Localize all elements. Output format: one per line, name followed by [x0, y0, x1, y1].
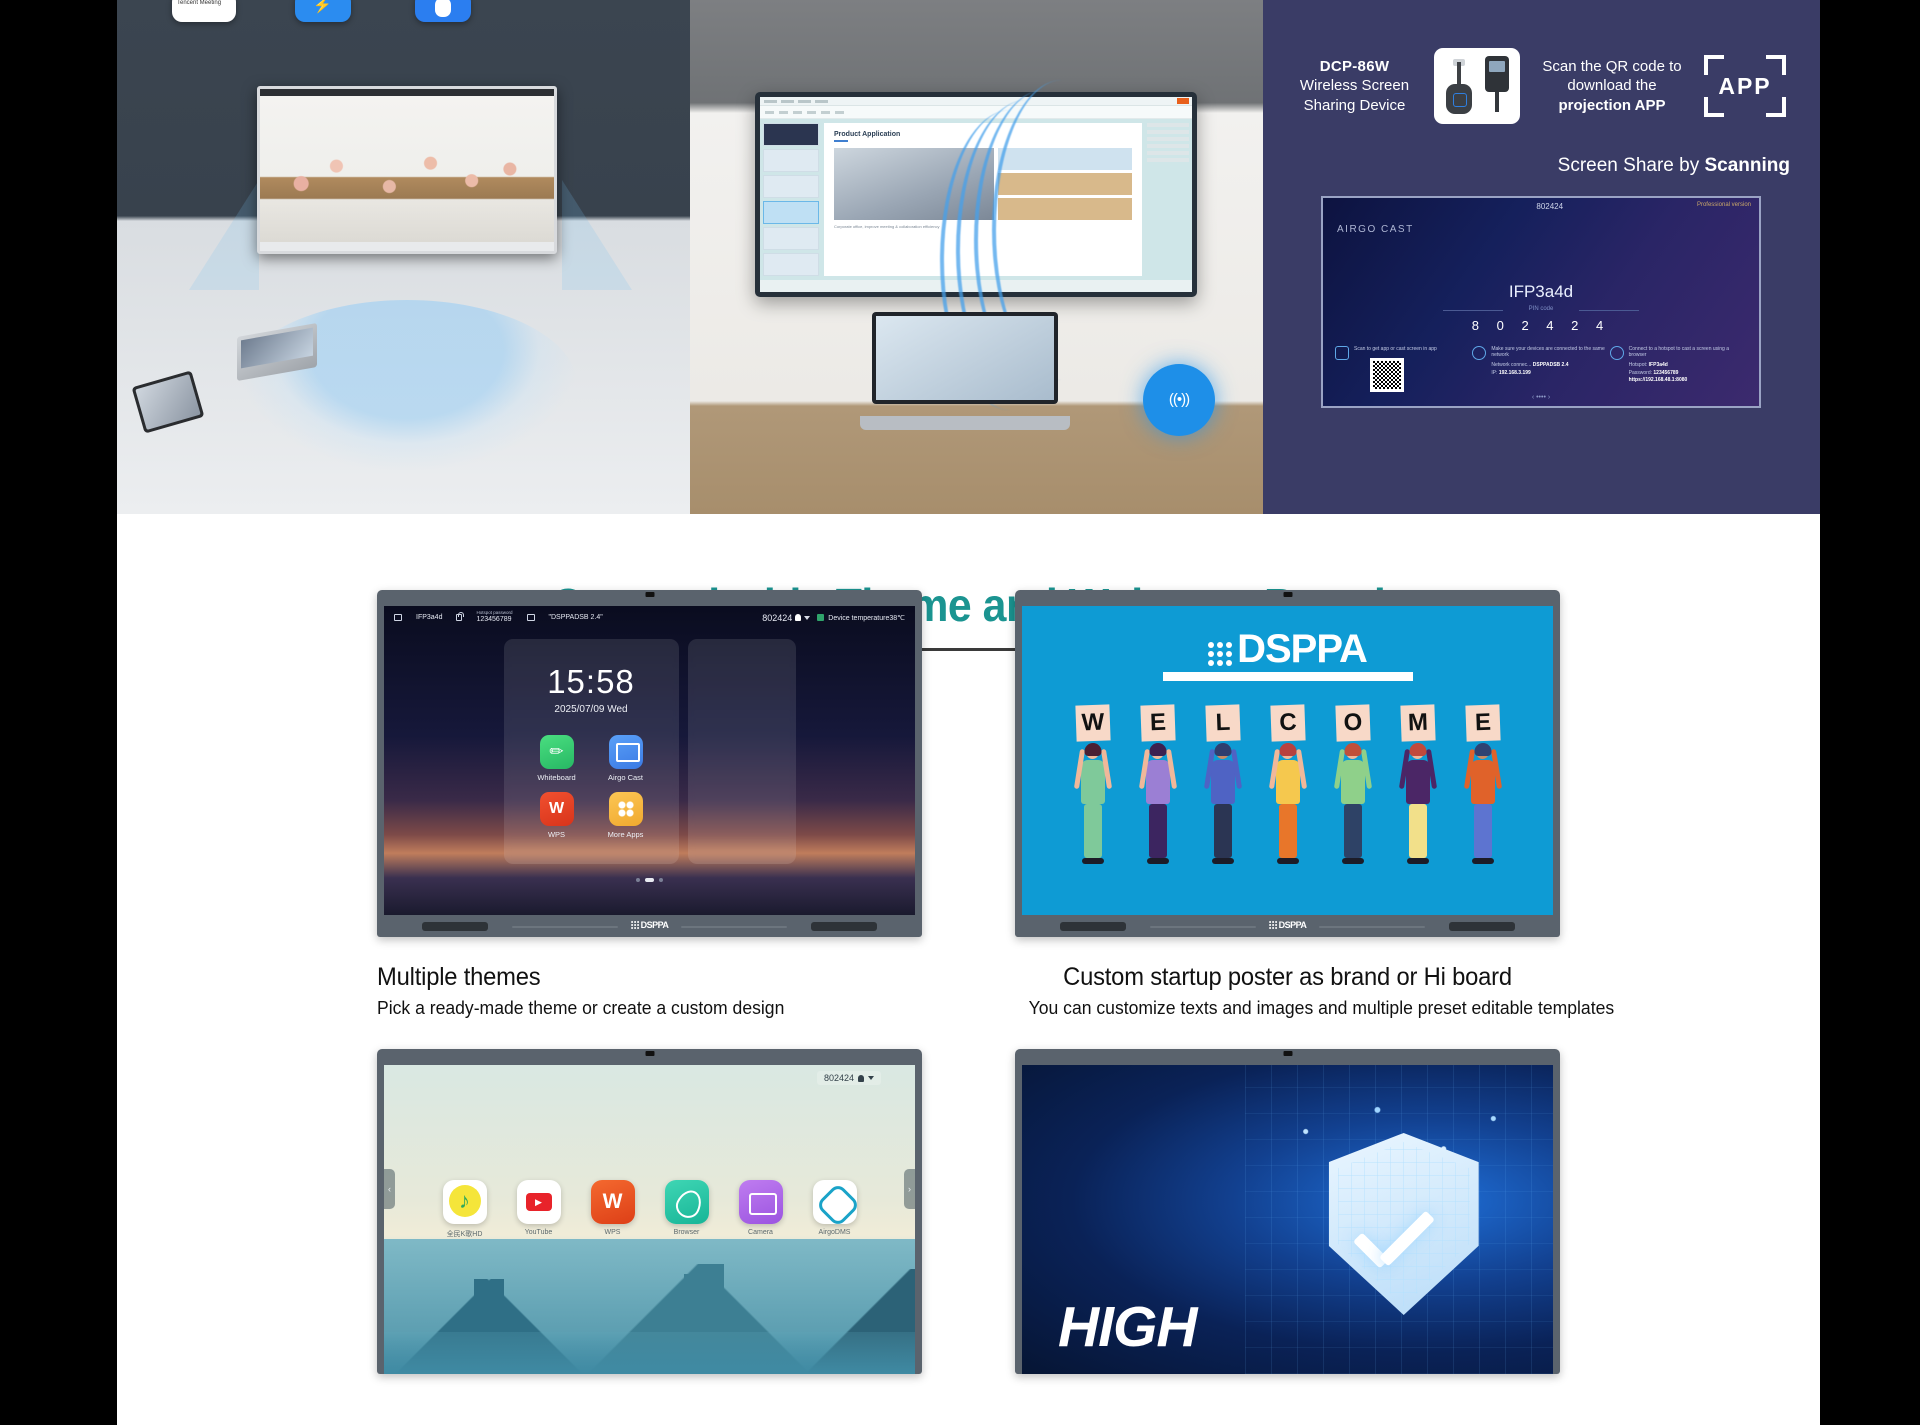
vent-left — [512, 926, 618, 928]
meeting-participants-photo — [260, 96, 554, 242]
banner-panel-meeting: Tencent Meeting — [117, 0, 690, 514]
figure-legs — [1084, 804, 1102, 858]
caption-right: Custom startup poster as brand or Hi boa… — [1015, 963, 1560, 1019]
meeting-display — [257, 86, 557, 254]
welcome-brand-underline — [1163, 672, 1413, 681]
figure-shoes — [1342, 858, 1364, 864]
figure-body — [1080, 745, 1106, 864]
brand-logo: DSPPA — [631, 920, 669, 930]
ip-value: 192.168.3.199 — [1499, 370, 1531, 376]
figure-body — [1275, 745, 1301, 864]
status-user[interactable]: 802424 — [762, 613, 810, 623]
ppt-titlebar — [760, 97, 1192, 106]
display-row-1: IFP3a4d Hotspot password 123456789 "DSPP… — [117, 590, 1820, 937]
voice-app-icon — [415, 0, 471, 22]
dock-app-camera-label: Camera — [735, 1229, 787, 1236]
camera-icon — [1283, 592, 1292, 597]
caption-right-subtitle: You can customize texts and images and m… — [1029, 997, 1547, 1019]
figure-legs — [1409, 804, 1427, 858]
ip-key: IP: — [1491, 370, 1497, 376]
app-more-apps-label: More Apps — [602, 830, 649, 839]
welcome-letter: O — [1335, 704, 1370, 741]
caption-left-subtitle: Pick a ready-made theme or create a cust… — [377, 997, 895, 1019]
dock-app-browser-label: Browser — [661, 1229, 713, 1236]
ifp-frame: DSPPA W — [1015, 590, 1560, 937]
ifp-screen-security: HIGH — [1022, 1065, 1553, 1374]
ifp-frame: IFP3a4d Hotspot password 123456789 "DSPP… — [377, 590, 922, 937]
dcp-line2: Wireless Screen — [1287, 76, 1422, 95]
wps-icon — [591, 1180, 635, 1224]
dms-icon — [813, 1180, 857, 1224]
wifi-icon — [1143, 364, 1215, 436]
figure-body — [1340, 745, 1366, 864]
compass-icon — [665, 1180, 709, 1224]
hotspot-value: IFP3a4d — [1649, 362, 1668, 368]
screen-share-title-plain: Screen Share by — [1558, 155, 1705, 176]
ppt-active-slide: Product Application Corporate office, im… — [824, 123, 1142, 276]
status-temperature: Device temperature38℃ — [817, 614, 905, 622]
figure-shoes — [1277, 858, 1299, 864]
mountain-user-code: 802424 — [824, 1073, 854, 1083]
welcome-letter: M — [1400, 704, 1435, 741]
laptop-screen — [872, 312, 1058, 404]
cast-icon — [609, 735, 643, 769]
table-glow — [237, 300, 577, 470]
mountain-wallpaper — [384, 1239, 915, 1374]
display-welcome-board: DSPPA W — [1015, 590, 1560, 937]
status-right-group: 802424 Device temperature38℃ — [762, 613, 905, 623]
ppt-image-group — [998, 148, 1132, 220]
home-widgets: 15:58 2025/07/09 Wed Whiteboard — [384, 639, 915, 864]
flash-app-icon — [295, 0, 351, 22]
laptop-keyboard — [860, 416, 1070, 430]
screen-share-title-bold: Scanning — [1704, 155, 1790, 176]
beam-right — [562, 180, 632, 290]
display-mountain-theme: 802424 ‹ › 全民K歌HD — [377, 1049, 922, 1374]
figure-shoes — [1082, 858, 1104, 864]
bezel-top — [384, 597, 915, 606]
status-wifi-ssid: "DSPPADSB 2.4" — [549, 614, 603, 621]
caption-row: Multiple themes Pick a ready-made theme … — [117, 963, 1820, 1019]
logo-dots-icon — [1208, 642, 1232, 666]
camera-icon — [739, 1180, 783, 1224]
caption-left-title: Multiple themes — [377, 963, 895, 992]
qr-line3: projection APP — [1532, 96, 1692, 115]
welcome-brand-logo: DSPPA — [1022, 606, 1553, 666]
pager-dot-1[interactable] — [636, 878, 640, 882]
app-wps-label: WPS — [533, 830, 580, 839]
welcome-figure: O — [1324, 705, 1382, 873]
password-key: Password: — [1629, 370, 1652, 376]
welcome-letter: W — [1075, 704, 1110, 741]
figure-body — [1210, 745, 1236, 864]
port-cluster-right — [811, 922, 877, 931]
welcome-figure: C — [1259, 705, 1317, 873]
ppt-body: Product Application Corporate office, im… — [760, 119, 1192, 280]
ppt-image-office — [834, 148, 994, 220]
logo-dots-icon — [1269, 921, 1277, 929]
cast-user-code: 802424 — [1536, 202, 1563, 211]
app-mark-label: APP — [1704, 55, 1786, 117]
meeting-toolbar — [260, 89, 554, 96]
figure-shoes — [1212, 858, 1234, 864]
ifp-screen-dark: IFP3a4d Hotspot password 123456789 "DSPP… — [384, 606, 915, 915]
port-cluster-right — [1449, 922, 1515, 931]
vent-left — [1150, 926, 1256, 928]
app-bracket-icon: APP — [1704, 55, 1786, 117]
pager-dot-3[interactable] — [659, 878, 663, 882]
tencent-meeting-badge: Tencent Meeting — [172, 0, 236, 22]
network-key: Network connec... — [1491, 362, 1531, 368]
figure-legs — [1149, 804, 1167, 858]
dock-app-airgodms-label: AirgoDMS — [809, 1229, 861, 1236]
cast-tip-2: Make sure your devices are connected to … — [1491, 346, 1609, 358]
wifi-status-icon — [527, 614, 535, 621]
home-pager[interactable] — [384, 878, 915, 882]
cast-qr-code — [1370, 358, 1404, 392]
hotspot-key: Hotspot: — [1629, 362, 1648, 368]
welcome-letter: E — [1465, 704, 1500, 741]
camera-icon — [1283, 1051, 1292, 1056]
dock-app-airgodms[interactable]: AirgoDMS — [809, 1180, 861, 1239]
banner-panel-device: DCP-86W Wireless Screen Sharing Device S… — [1263, 0, 1820, 514]
airgo-cast-logo: AIRGO CAST — [1337, 224, 1414, 235]
ppt-ribbon — [760, 106, 1192, 119]
lock-icon — [456, 614, 462, 621]
welcome-letter: C — [1270, 704, 1305, 741]
meeting-tablet — [132, 370, 205, 433]
quick-apps: Whiteboard Airgo Cast WPS — [533, 735, 649, 839]
app-whiteboard-label: Whiteboard — [533, 773, 580, 782]
tencent-meeting-label: Tencent Meeting — [177, 0, 221, 6]
banner-panel-casting: Product Application Corporate office, im… — [690, 0, 1263, 514]
pager-dot-2[interactable] — [645, 878, 654, 882]
caption-right-title: Custom startup poster as brand or Hi boa… — [1029, 963, 1547, 992]
figure-legs — [1279, 804, 1297, 858]
app-whiteboard[interactable]: Whiteboard — [533, 735, 580, 782]
camera-icon — [645, 592, 654, 597]
status-device-name: IFP3a4d — [416, 614, 442, 621]
welcome-figure: E — [1454, 705, 1512, 873]
app-dock: 全民K歌HD YouTube WPS — [384, 1180, 915, 1239]
music-note-icon — [443, 1180, 487, 1224]
welcome-figure: W — [1064, 705, 1122, 873]
meeting-footer — [260, 242, 554, 251]
qr-line1: Scan the QR code to — [1532, 57, 1692, 76]
beam-left — [189, 180, 259, 290]
logo-dots-icon — [631, 921, 639, 929]
app-airgo-cast-label: Airgo Cast — [602, 773, 649, 782]
dock-app-youtube-label: YouTube — [513, 1229, 565, 1236]
cast-topbar: 802424 Professional version — [1323, 202, 1759, 214]
ppt-slide-images — [834, 148, 1132, 220]
screen-share-title: Screen Share by Scanning — [1558, 155, 1790, 177]
welcome-figures: W E — [1022, 705, 1553, 873]
dock-app-karaoke-label: 全民K歌HD — [439, 1229, 491, 1239]
bezel-top — [384, 1056, 915, 1065]
status-user-code: 802424 — [762, 613, 792, 623]
display-security-poster: HIGH — [1015, 1049, 1560, 1374]
download-icon — [1335, 346, 1349, 360]
mountain-status-user[interactable]: 802424 — [817, 1071, 881, 1085]
brand-logo-text: DSPPA — [641, 920, 669, 930]
cast-tip-scan: Scan to get app or cast screen in app — [1335, 346, 1472, 392]
password-value: 123456789 — [1653, 370, 1678, 376]
welcome-figure: E — [1129, 705, 1187, 873]
app-airgo-cast[interactable]: Airgo Cast — [602, 735, 649, 782]
clock-date: 2025/07/09 Wed — [504, 704, 679, 715]
transmitter-icon — [1485, 56, 1509, 92]
dcp-text-block: DCP-86W Wireless Screen Sharing Device — [1287, 57, 1422, 115]
welcome-figure: M — [1389, 705, 1447, 873]
hotspot-icon — [1610, 346, 1624, 360]
ifp-frame: HIGH — [1015, 1049, 1560, 1374]
casting-laptop — [860, 312, 1070, 430]
cast-info-row: Scan to get app or cast screen in app Ma… — [1335, 346, 1747, 392]
ppt-caption-left: Corporate office, improve meeting & coll… — [834, 224, 1132, 229]
cast-url: https://192.168.48.1:8080 — [1629, 377, 1688, 383]
network-value: DSPPADSB 2.4 — [1533, 362, 1569, 368]
figure-legs — [1344, 804, 1362, 858]
play-icon — [517, 1180, 561, 1224]
grid-icon — [609, 792, 643, 826]
welcome-letter: E — [1140, 704, 1175, 741]
ifp-frame: 802424 ‹ › 全民K歌HD — [377, 1049, 922, 1374]
ifp-status-bar: IFP3a4d Hotspot password 123456789 "DSPP… — [384, 606, 915, 629]
display-grid: IFP3a4d Hotspot password 123456789 "DSPP… — [117, 590, 1820, 1374]
bezel-bottom: DSPPA — [384, 915, 915, 937]
figure-shoes — [1407, 858, 1429, 864]
wps-icon — [540, 792, 574, 826]
status-temperature-text: Device temperature38℃ — [828, 614, 905, 622]
ppt-slide-title: Product Application — [834, 131, 1132, 142]
chevron-down-icon[interactable] — [868, 1076, 874, 1080]
clock-widget[interactable]: 15:58 2025/07/09 Wed Whiteboard — [504, 639, 679, 864]
dcp-device-photo — [1434, 48, 1520, 124]
camera-icon — [645, 1051, 654, 1056]
dongle-icon — [1446, 62, 1472, 114]
ppt-statusbar — [760, 280, 1192, 292]
clock-block: 15:58 2025/07/09 Wed — [504, 639, 679, 715]
welcome-brand-text: DSPPA — [1237, 632, 1367, 666]
app-more-apps[interactable]: More Apps — [602, 792, 649, 839]
brand-logo-text: DSPPA — [1279, 920, 1307, 930]
ppt-side-panel[interactable] — [1144, 119, 1192, 280]
cast-tip-1: Scan to get app or cast screen in app — [1354, 346, 1437, 352]
user-avatar-icon — [795, 614, 801, 621]
welcome-figure: L — [1194, 705, 1252, 873]
dcp-info-row: DCP-86W Wireless Screen Sharing Device S… — [1287, 48, 1799, 124]
airgo-cast-screen: 802424 Professional version AIRGO CAST I… — [1321, 196, 1761, 408]
ppt-screen: Product Application Corporate office, im… — [760, 97, 1192, 292]
app-wps[interactable]: WPS — [533, 792, 580, 839]
figure-legs — [1474, 804, 1492, 858]
ifp-display-ppt: Product Application Corporate office, im… — [755, 92, 1197, 297]
cast-pin-label: PIN code — [1323, 306, 1759, 312]
welcome-letter: L — [1205, 704, 1240, 741]
cast-pager[interactable]: ‹ •••• › — [1323, 394, 1759, 401]
caption-left: Multiple themes Pick a ready-made theme … — [377, 963, 922, 1019]
port-cluster-left — [1060, 922, 1126, 931]
status-hotspot: Hotspot password 123456789 — [476, 611, 512, 623]
figure-body — [1145, 745, 1171, 864]
port-cluster-left — [422, 922, 488, 931]
ifp-screen-mountain: 802424 ‹ › 全民K歌HD — [384, 1065, 915, 1374]
vent-right — [1319, 926, 1425, 928]
dock-app-wps-label: WPS — [587, 1229, 639, 1236]
ppt-slide-thumbnails[interactable] — [760, 119, 822, 280]
cast-tip-network: Make sure your devices are connected to … — [1472, 346, 1609, 392]
dock-app-youtube[interactable]: YouTube — [513, 1180, 565, 1239]
pencil-icon — [540, 735, 574, 769]
qr-instruction: Scan the QR code to download the project… — [1532, 57, 1692, 115]
cast-version-label: Professional version — [1697, 202, 1751, 208]
security-headline: HIGH — [1058, 1294, 1197, 1360]
cast-tip-hotspot: Connect to a hotspot to cast a screen us… — [1610, 346, 1747, 392]
qr-line2: download the — [1532, 76, 1692, 95]
secondary-widget[interactable] — [688, 639, 796, 864]
bezel-bottom: DSPPA — [1022, 915, 1553, 937]
dock-app-wps[interactable]: WPS — [587, 1180, 639, 1239]
dock-app-camera[interactable]: Camera — [735, 1180, 787, 1239]
network-icon — [1472, 346, 1486, 360]
checkmark-icon — [1350, 1226, 1436, 1272]
display-dark-theme: IFP3a4d Hotspot password 123456789 "DSPP… — [377, 590, 922, 937]
temperature-icon — [817, 614, 824, 621]
top-banner: Tencent Meeting — [117, 0, 1820, 514]
clock-time: 15:58 — [504, 663, 679, 701]
cast-pin-code: 8 0 2 4 2 4 — [1323, 318, 1759, 333]
dcp-line3: Sharing Device — [1287, 96, 1422, 115]
page-root: Tencent Meeting — [117, 0, 1820, 1425]
dock-app-browser[interactable]: Browser — [661, 1180, 713, 1239]
vent-right — [681, 926, 787, 928]
cast-device-name: IFP3a4d — [1323, 282, 1759, 302]
device-icon — [394, 614, 402, 621]
bezel-top — [1022, 1056, 1553, 1065]
figure-legs — [1214, 804, 1232, 858]
cast-tip-3: Connect to a hotspot to cast a screen us… — [1629, 346, 1747, 358]
dcp-model: DCP-86W — [1287, 57, 1422, 76]
figure-shoes — [1147, 858, 1169, 864]
brand-logo: DSPPA — [1269, 920, 1307, 930]
figure-shoes — [1472, 858, 1494, 864]
bezel-top — [1022, 597, 1553, 606]
display-row-2: 802424 ‹ › 全民K歌HD — [117, 1049, 1820, 1374]
chevron-down-icon[interactable] — [804, 616, 810, 620]
figure-body — [1405, 745, 1431, 864]
user-avatar-icon — [858, 1075, 864, 1082]
dock-app-karaoke[interactable]: 全民K歌HD — [439, 1180, 491, 1239]
status-hotspot-value: 123456789 — [476, 616, 512, 623]
figure-body — [1470, 745, 1496, 864]
ifp-screen-welcome: DSPPA W — [1022, 606, 1553, 915]
